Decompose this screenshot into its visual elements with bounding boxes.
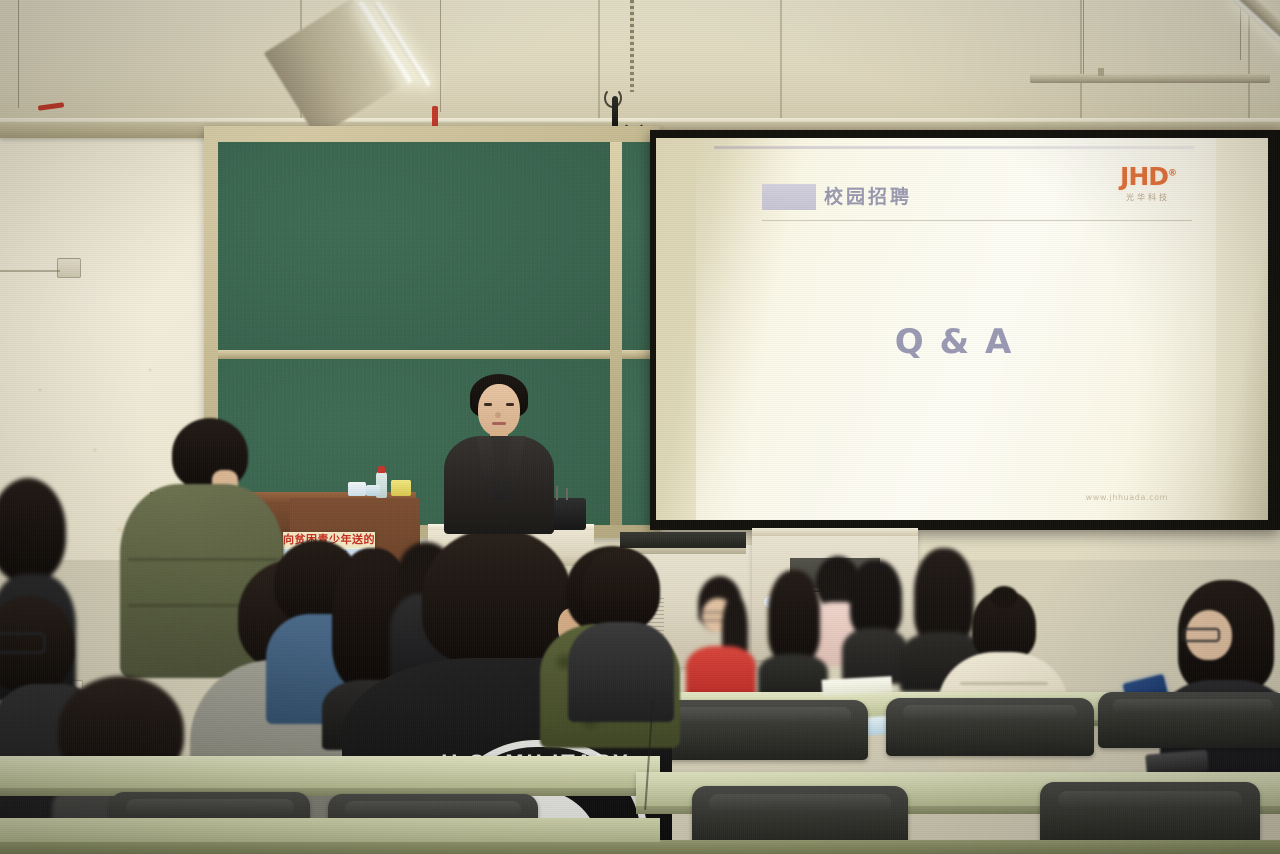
blackboard-side-panel (622, 142, 652, 350)
chair-back[interactable] (886, 698, 1094, 756)
tissue-box (366, 485, 380, 496)
desk-surface-bottom (0, 818, 660, 842)
blackboard-upper-panel (218, 142, 610, 350)
ceiling-seam (780, 0, 782, 120)
student-desk-row-1 (0, 756, 660, 790)
eye-left (484, 403, 492, 406)
screen-chain (630, 0, 634, 92)
cabinet-top (752, 528, 918, 536)
presenter (440, 374, 558, 534)
coat-seam (960, 682, 1048, 685)
projection-surface: 校园招聘 Q & A JHD® 光华科技 www.jhhuada.com (656, 138, 1268, 520)
slide-header-box (762, 184, 816, 210)
light-hanger-wire (1083, 0, 1084, 78)
chair-back[interactable] (1098, 692, 1280, 748)
mouth (492, 422, 506, 425)
eye-right (506, 403, 514, 406)
slide-footer-url: www.jhhuada.com (1086, 493, 1168, 502)
student-ponytail-center (758, 570, 828, 698)
projection-screen: 校园招聘 Q & A JHD® 光华科技 www.jhhuada.com (650, 130, 1280, 530)
chair-back[interactable] (654, 700, 868, 760)
student-center-right (568, 548, 674, 720)
student-phone-user (1160, 580, 1280, 780)
bottle-cap (378, 466, 385, 473)
presentation-slide: 校园招聘 Q & A JHD® 光华科技 www.jhhuada.com (704, 144, 1204, 516)
tissue-box (348, 482, 366, 496)
hair-bun (990, 586, 1018, 608)
student-desk-row-1-edge (0, 788, 660, 796)
glasses-icon (0, 632, 46, 654)
slide-main-text: Q & A (704, 322, 1204, 362)
slide-top-accent (714, 146, 1194, 149)
desk-front-edge (0, 840, 1280, 854)
light-hanger-wire (440, 0, 441, 112)
logo-mark-text: JHD (1120, 162, 1168, 191)
classroom-presentation-photo: 校园招聘 Q & A JHD® 光华科技 www.jhhuada.com 向贫困… (0, 0, 1280, 854)
nose (495, 412, 501, 418)
fixture-mount (1098, 68, 1104, 76)
blackboard-chalk-rail (218, 350, 610, 359)
light-hanger-wire (18, 0, 19, 108)
logo-subtitle: 光华科技 (1120, 192, 1176, 203)
company-logo: JHD® 光华科技 (1120, 162, 1176, 203)
projector-antenna (566, 488, 568, 500)
glasses-icon (1182, 628, 1220, 642)
handout-box (391, 480, 411, 496)
ceiling-seam (1248, 0, 1250, 120)
blackboard-side-rail (622, 350, 652, 359)
slide-header-label: 校园招聘 (824, 182, 912, 209)
student-glasses-red (686, 576, 756, 696)
presenter-face (478, 384, 520, 436)
slide-header-rule (762, 220, 1192, 221)
light-fixture-bracket (432, 106, 438, 128)
fluorescent-housing (1030, 74, 1270, 83)
ceiling-seam (1080, 0, 1082, 120)
wall-conduit (0, 270, 60, 272)
logo-wordmark: JHD® (1120, 162, 1176, 191)
ceiling (0, 0, 1280, 128)
blackboard-divider (610, 142, 622, 525)
wall-outlet (57, 258, 81, 278)
screen-pull-handle[interactable] (612, 96, 618, 130)
blackboard-side-panel-lower (622, 359, 652, 525)
ceiling-seam (598, 0, 600, 120)
logo-registered-mark: ® (1168, 169, 1176, 179)
